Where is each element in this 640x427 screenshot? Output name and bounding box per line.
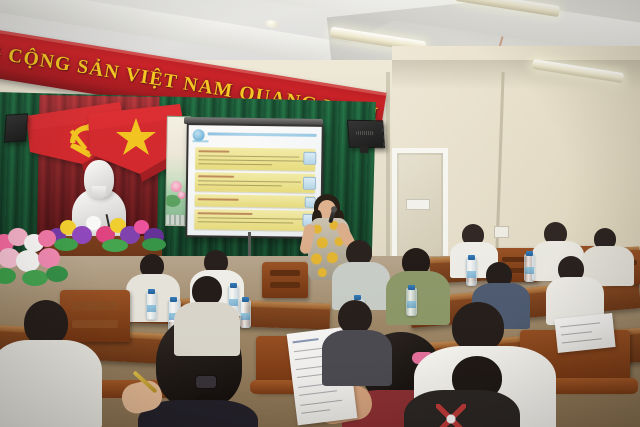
water-bottle-2 [146, 292, 157, 320]
flower-arrangement-left [0, 228, 76, 290]
projection-screen [185, 123, 324, 239]
bust-beard [92, 186, 106, 199]
speaker-mount [360, 146, 369, 153]
slide-content-box-2 [195, 172, 315, 193]
wall-speaker-left [4, 113, 28, 142]
water-bottle-9 [406, 288, 417, 316]
water-bottle-5 [240, 300, 251, 328]
conference-room-photo: G CỘNG SẢN VIỆT NAM QUANG VINH MUÔN NĂM [0, 0, 640, 427]
slide-header [192, 128, 319, 145]
slide-badge-2 [303, 177, 316, 190]
slide-badge-1 [303, 152, 316, 165]
speaker-grill-icon [356, 131, 374, 135]
wall-corner [386, 72, 390, 282]
hair-clip-icon [196, 376, 216, 388]
chair-back-1[interactable] [262, 262, 308, 306]
document-on-table [554, 313, 615, 353]
wall-speaker-right [347, 120, 385, 149]
lotus-flower-icon-2 [178, 191, 186, 199]
slide-title-bar [208, 132, 317, 137]
slide-subtitle-bar [193, 140, 209, 142]
slide-content-box-4 [194, 209, 314, 231]
slide-content-box-1 [195, 147, 315, 171]
shirt-pattern-motif [436, 404, 466, 427]
wall-outlet [494, 226, 509, 238]
water-bottle-3 [466, 258, 477, 286]
projected-slide [187, 125, 322, 237]
water-bottle-4 [524, 254, 535, 282]
slide-content-box-3 [195, 194, 315, 208]
door-sign [406, 199, 430, 210]
